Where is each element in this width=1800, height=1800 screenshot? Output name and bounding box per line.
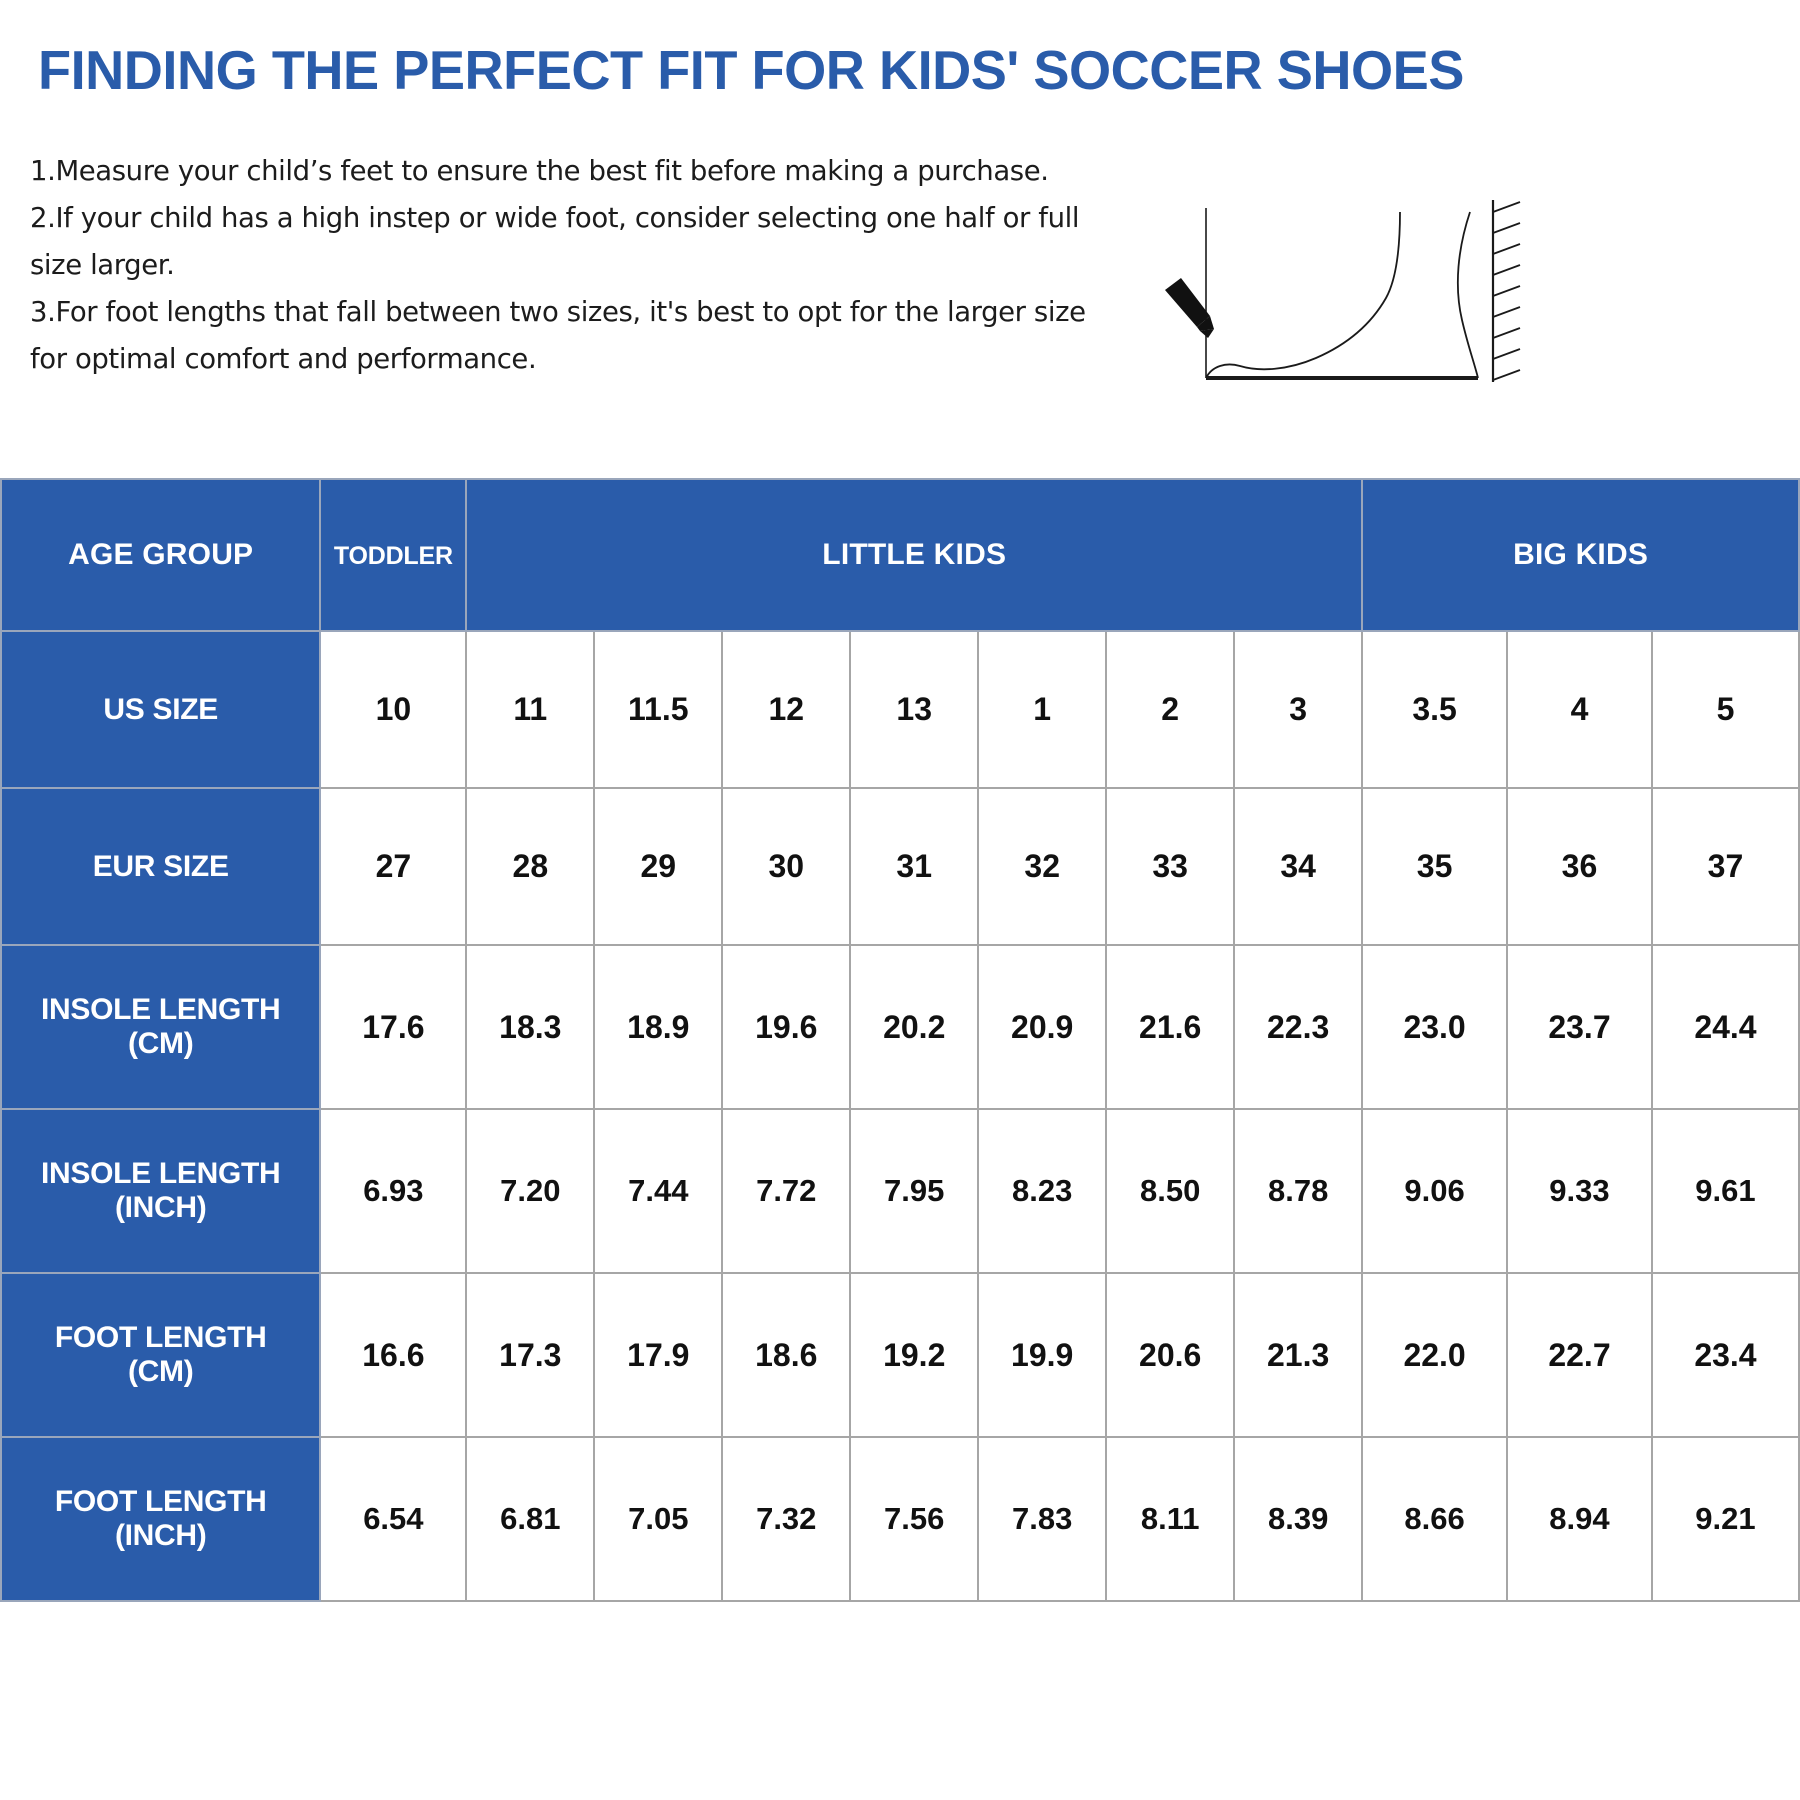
cell: 9.33 [1507,1109,1652,1273]
table-group-header-row: AGE GROUP TODDLER LITTLE KIDS BIG KIDS [1,479,1799,631]
cell: 17.9 [594,1273,722,1437]
instruction-line-1: 1.Measure your child’s feet to ensure th… [30,148,1140,195]
cell: 28 [466,788,594,945]
cell: 22.7 [1507,1273,1652,1437]
cell: 33 [1106,788,1234,945]
heel-curve-icon [1458,212,1478,378]
cell: 20.2 [850,945,978,1109]
cell: 36 [1507,788,1652,945]
cell: 6.54 [320,1437,466,1601]
cell: 17.3 [466,1273,594,1437]
cell: 20.6 [1106,1273,1234,1437]
cell: 37 [1652,788,1799,945]
cell: 1 [978,631,1106,788]
table-row-us-size: US SIZE 10 11 11.5 12 13 1 2 3 3.5 4 5 [1,631,1799,788]
cell: 8.78 [1234,1109,1362,1273]
page-title: FINDING THE PERFECT FIT FOR KIDS' SOCCER… [38,42,1752,100]
cell: 30 [722,788,850,945]
row-label-foot-inch: FOOT LENGTH (INCH) [1,1437,320,1601]
cell: 31 [850,788,978,945]
cell: 8.11 [1106,1437,1234,1601]
cell: 12 [722,631,850,788]
cell: 3.5 [1362,631,1507,788]
cell: 18.3 [466,945,594,1109]
cell: 6.93 [320,1109,466,1273]
cell: 9.21 [1652,1437,1799,1601]
cell: 7.56 [850,1437,978,1601]
cell: 7.83 [978,1437,1106,1601]
cell: 7.20 [466,1109,594,1273]
cell: 9.06 [1362,1109,1507,1273]
ruler-hatching-icon [1493,202,1520,380]
cell: 22.0 [1362,1273,1507,1437]
cell: 16.6 [320,1273,466,1437]
cell: 7.44 [594,1109,722,1273]
cell: 8.39 [1234,1437,1362,1601]
instructions-block: 1.Measure your child’s feet to ensure th… [30,148,1140,383]
instruction-line-2: 2.If your child has a high instep or wid… [30,195,1140,242]
cell: 17.6 [320,945,466,1109]
cell: 22.3 [1234,945,1362,1109]
cell: 35 [1362,788,1507,945]
instruction-line-5: for optimal comfort and performance. [30,336,1140,383]
cell: 4 [1507,631,1652,788]
cell: 18.6 [722,1273,850,1437]
cell: 20.9 [978,945,1106,1109]
age-group-big-kids: BIG KIDS [1362,479,1799,631]
cell: 18.9 [594,945,722,1109]
table-row-foot-cm: FOOT LENGTH (CM) 16.6 17.3 17.9 18.6 19.… [1,1273,1799,1437]
row-label-insole-cm: INSOLE LENGTH (CM) [1,945,320,1109]
cell: 23.0 [1362,945,1507,1109]
cell: 8.50 [1106,1109,1234,1273]
size-chart-page: FINDING THE PERFECT FIT FOR KIDS' SOCCER… [0,0,1800,1800]
row-label-eur-size: EUR SIZE [1,788,320,945]
age-group-toddler: TODDLER [320,479,466,631]
row-label-foot-cm: FOOT LENGTH (CM) [1,1273,320,1437]
cell: 11 [466,631,594,788]
cell: 19.6 [722,945,850,1109]
cell: 8.94 [1507,1437,1652,1601]
table-row-eur-size: EUR SIZE 27 28 29 30 31 32 33 34 35 36 3… [1,788,1799,945]
cell: 6.81 [466,1437,594,1601]
cell: 23.4 [1652,1273,1799,1437]
foot-measurement-diagram-icon [1148,190,1548,390]
cell: 7.05 [594,1437,722,1601]
cell: 27 [320,788,466,945]
row-label-us-size: US SIZE [1,631,320,788]
cell: 3 [1234,631,1362,788]
cell: 21.3 [1234,1273,1362,1437]
cell: 7.72 [722,1109,850,1273]
cell: 34 [1234,788,1362,945]
cell: 32 [978,788,1106,945]
age-group-little-kids: LITTLE KIDS [466,479,1362,631]
row-label-insole-inch: INSOLE LENGTH (INCH) [1,1109,320,1273]
cell: 2 [1106,631,1234,788]
cell: 11.5 [594,631,722,788]
cell: 9.61 [1652,1109,1799,1273]
cell: 21.6 [1106,945,1234,1109]
cell: 19.2 [850,1273,978,1437]
size-chart-table: AGE GROUP TODDLER LITTLE KIDS BIG KIDS U… [0,478,1800,1602]
cell: 13 [850,631,978,788]
table-row-insole-cm: INSOLE LENGTH (CM) 17.6 18.3 18.9 19.6 2… [1,945,1799,1109]
cell: 23.7 [1507,945,1652,1109]
cell: 8.23 [978,1109,1106,1273]
instruction-line-3: size larger. [30,242,1140,289]
table-row-foot-inch: FOOT LENGTH (INCH) 6.54 6.81 7.05 7.32 7… [1,1437,1799,1601]
cell: 29 [594,788,722,945]
cell: 10 [320,631,466,788]
age-group-corner-label: AGE GROUP [1,479,320,631]
instruction-line-4: 3.For foot lengths that fall between two… [30,289,1140,336]
table-row-insole-inch: INSOLE LENGTH (INCH) 6.93 7.20 7.44 7.72… [1,1109,1799,1273]
cell: 7.32 [722,1437,850,1601]
cell: 19.9 [978,1273,1106,1437]
cell: 5 [1652,631,1799,788]
cell: 7.95 [850,1109,978,1273]
cell: 8.66 [1362,1437,1507,1601]
foot-outline-top-icon [1206,212,1400,378]
cell: 24.4 [1652,945,1799,1109]
